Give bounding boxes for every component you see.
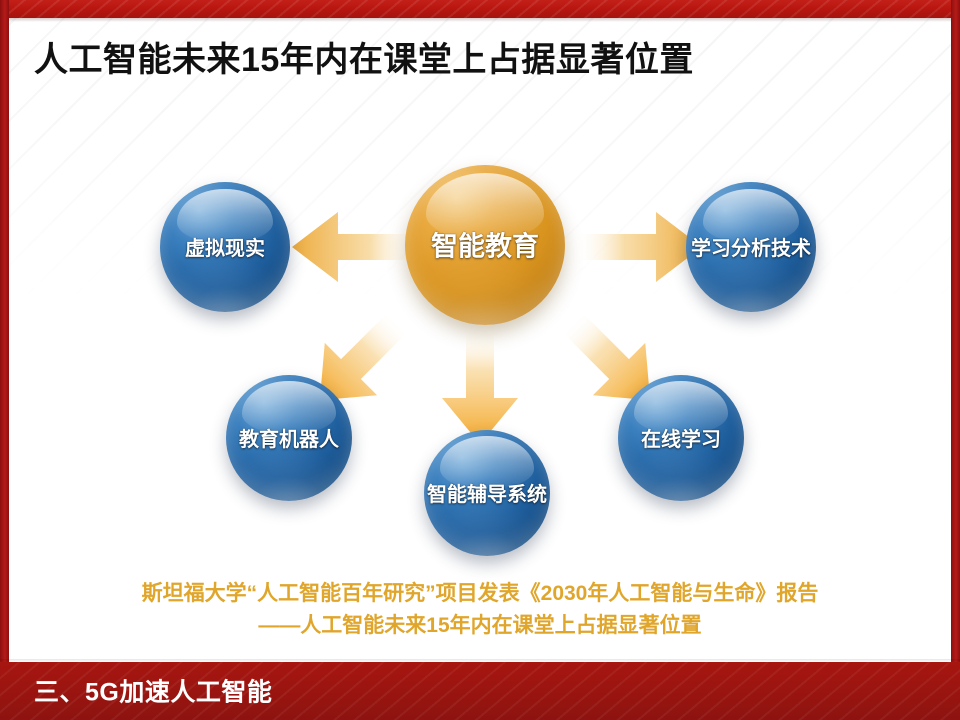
node-sphere bbox=[160, 182, 290, 312]
node-sphere bbox=[424, 430, 550, 556]
node-sphere bbox=[686, 182, 816, 312]
page-title: 人工智能未来15年内在课堂上占据显著位置 bbox=[34, 38, 894, 82]
node-sphere bbox=[618, 375, 744, 501]
node-center-smart-education[interactable]: 智能教育 bbox=[405, 165, 565, 325]
node-virtual-reality[interactable]: 虚拟现实 bbox=[160, 182, 290, 312]
node-online-learning[interactable]: 在线学习 bbox=[618, 375, 744, 501]
arrow-down-to-intelligent-tutoring bbox=[438, 328, 522, 446]
caption-line-1: 斯坦福大学“人工智能百年研究”项目发表《2030年人工智能与生命》报告 bbox=[142, 582, 819, 605]
bottom-red-band: 三、5G加速人工智能 bbox=[0, 662, 960, 720]
node-educational-robot[interactable]: 教育机器人 bbox=[226, 375, 352, 501]
arrow-right-to-learning-analytics bbox=[576, 208, 704, 286]
slide: 人工智能未来15年内在课堂上占据显著位置 bbox=[0, 0, 960, 720]
arrow-left-to-vr bbox=[290, 208, 418, 286]
top-red-band bbox=[0, 0, 960, 18]
caption-line-2: ——人工智能未来15年内在课堂上占据显著位置 bbox=[30, 610, 930, 642]
node-learning-analytics[interactable]: 学习分析技术 bbox=[686, 182, 816, 312]
section-title: 三、5G加速人工智能 bbox=[34, 672, 272, 708]
source-caption: 斯坦福大学“人工智能百年研究”项目发表《2030年人工智能与生命》报告 ——人工… bbox=[30, 578, 930, 642]
node-sphere bbox=[405, 165, 565, 325]
node-sphere bbox=[226, 375, 352, 501]
node-intelligent-tutoring-system[interactable]: 智能辅导系统 bbox=[424, 430, 550, 556]
hub-and-spoke-diagram: 智能教育 虚拟现实 学习分析技术 教育机器人 智能辅导系统 bbox=[0, 110, 960, 565]
